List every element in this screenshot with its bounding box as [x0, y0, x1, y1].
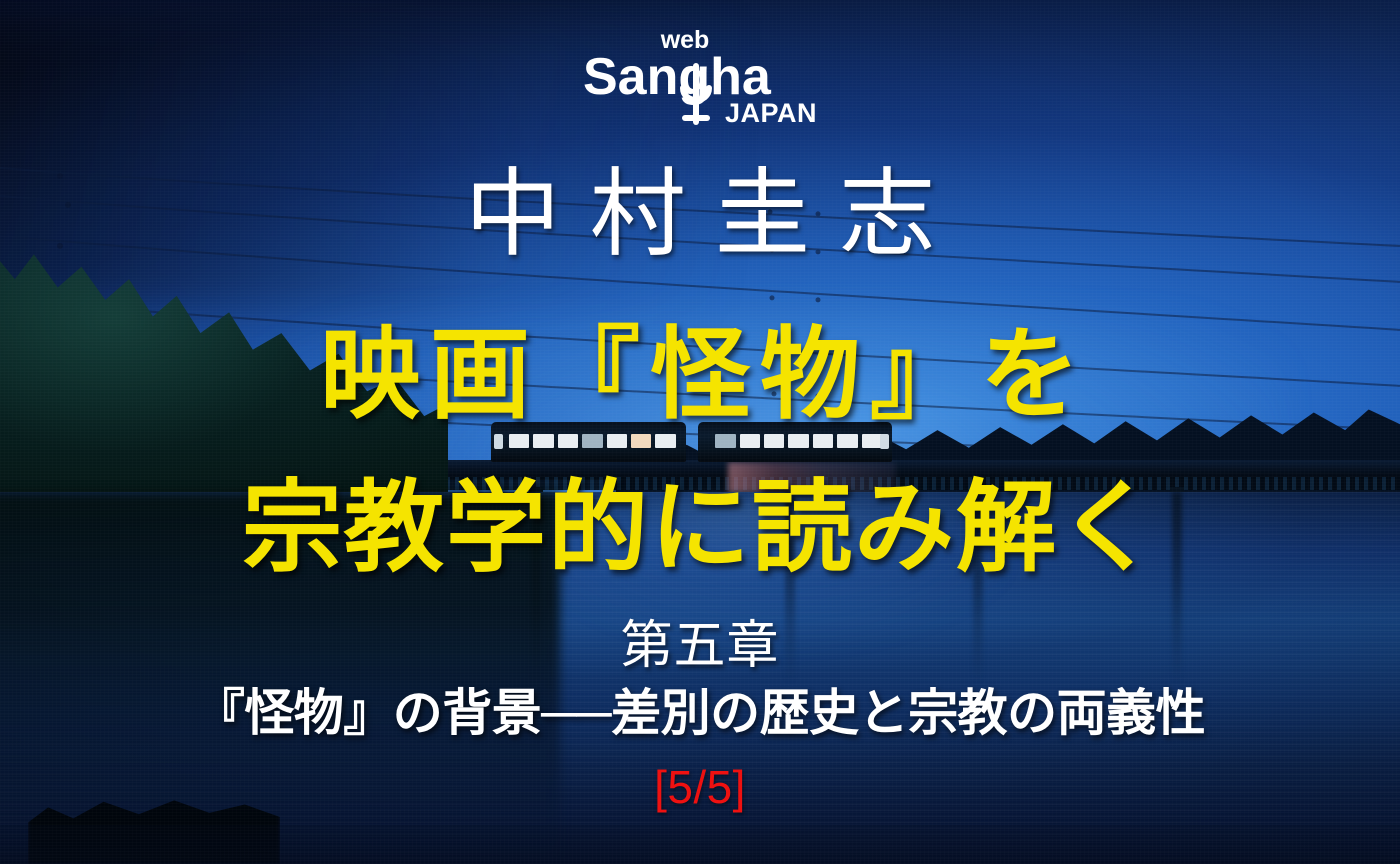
window-row: [509, 434, 676, 448]
train-car-rear: [698, 422, 892, 462]
train-window: [582, 434, 602, 448]
cab-window: [494, 434, 503, 449]
train-window: [607, 434, 627, 448]
train-window: [788, 434, 808, 448]
train-window: [509, 434, 529, 448]
train-window: [631, 434, 651, 448]
train-on-bridge: [491, 422, 891, 462]
pier-reflection: [785, 492, 795, 682]
article-title-banner: web Sangha JAPAN 中村圭志 映画『怪物』を 宗教学的に読み解く …: [0, 0, 1400, 864]
train-car-front: [491, 422, 685, 462]
train-window: [764, 434, 784, 448]
train-window: [533, 434, 553, 448]
distant-city-lights: [728, 462, 896, 493]
train-window: [715, 434, 735, 448]
near-shore-shadow: [0, 825, 1400, 864]
train-window: [655, 434, 675, 448]
site-logo[interactable]: web Sangha JAPAN: [575, 22, 825, 126]
pier-reflection: [973, 492, 983, 682]
treeline-reflection: [0, 492, 560, 864]
logo-bottom-word: JAPAN: [725, 98, 817, 126]
pier-reflection: [1172, 492, 1182, 682]
window-row: [715, 434, 882, 448]
water-light-reflection: [532, 501, 1008, 726]
train-window: [740, 434, 760, 448]
train-window: [558, 434, 578, 448]
web-sangha-japan-logo-icon: web Sangha JAPAN: [575, 22, 825, 126]
background-photo: [0, 0, 1400, 864]
train-window: [813, 434, 833, 448]
cab-window: [880, 434, 889, 449]
train-window: [837, 434, 857, 448]
